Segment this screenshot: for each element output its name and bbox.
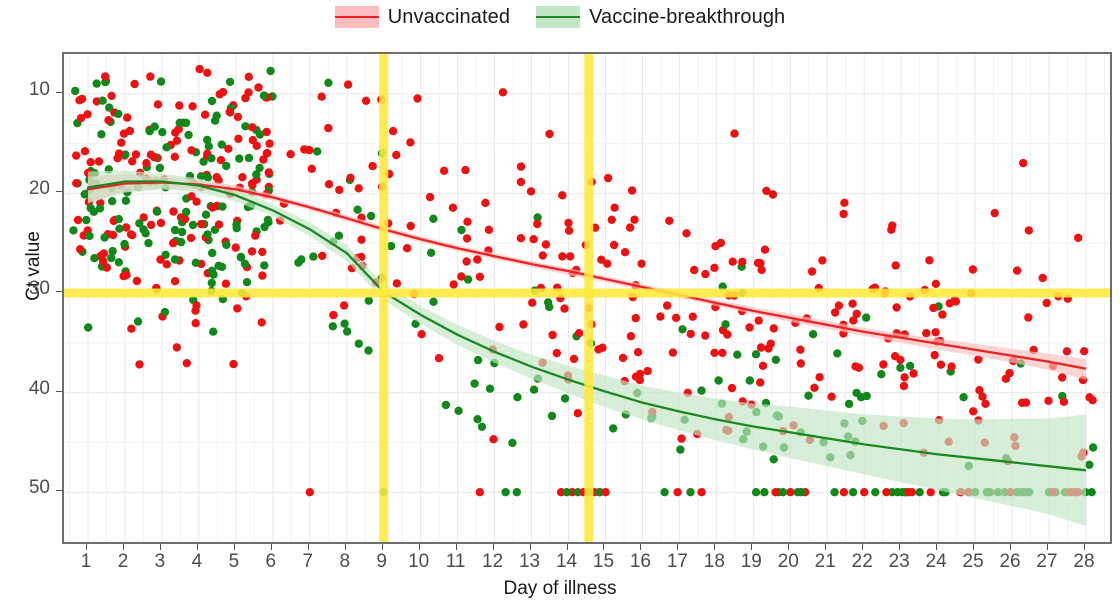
point-unvaccinated bbox=[669, 348, 677, 356]
point-vaccine-breakthrough bbox=[896, 364, 904, 372]
point-vaccine-breakthrough bbox=[746, 376, 754, 384]
point-unvaccinated bbox=[542, 240, 550, 248]
point-vaccine-breakthrough bbox=[156, 164, 164, 172]
point-censored bbox=[927, 488, 935, 496]
point-unvaccinated bbox=[701, 270, 709, 278]
point-vaccine-breakthrough bbox=[178, 228, 186, 236]
point-vaccine-breakthrough bbox=[457, 226, 465, 234]
point-unvaccinated bbox=[417, 330, 425, 338]
point-unvaccinated bbox=[100, 249, 108, 257]
point-unvaccinated bbox=[711, 242, 719, 250]
point-unvaccinated bbox=[245, 73, 253, 81]
point-unvaccinated bbox=[1080, 347, 1088, 355]
x-tick-label: 13 bbox=[510, 551, 550, 573]
point-unvaccinated bbox=[663, 301, 671, 309]
point-unvaccinated bbox=[324, 124, 332, 132]
point-unvaccinated bbox=[72, 179, 80, 187]
point-unvaccinated bbox=[181, 215, 189, 223]
point-vaccine-breakthrough bbox=[211, 117, 219, 125]
point-unvaccinated bbox=[74, 216, 82, 224]
point-unvaccinated bbox=[300, 145, 308, 153]
point-unvaccinated bbox=[113, 154, 121, 162]
point-unvaccinated bbox=[406, 138, 414, 146]
point-unvaccinated bbox=[130, 80, 138, 88]
legend-label-unvaccinated: Unvaccinated bbox=[388, 6, 510, 29]
point-unvaccinated bbox=[888, 221, 896, 229]
x-tick-mark bbox=[1047, 544, 1048, 550]
point-unvaccinated bbox=[603, 260, 611, 268]
point-vaccine-breakthrough bbox=[833, 349, 841, 357]
point-unvaccinated bbox=[188, 102, 196, 110]
point-unvaccinated bbox=[173, 343, 181, 351]
point-unvaccinated bbox=[1002, 375, 1010, 383]
point-vaccine-breakthrough bbox=[144, 239, 152, 247]
point-unvaccinated bbox=[574, 409, 582, 417]
point-vaccine-breakthrough bbox=[97, 130, 105, 138]
point-unvaccinated bbox=[656, 312, 664, 320]
point-vaccine-breakthrough bbox=[367, 212, 375, 220]
point-vaccine-breakthrough bbox=[906, 362, 914, 370]
x-tick-label: 24 bbox=[916, 551, 956, 573]
x-tick-mark bbox=[456, 544, 457, 550]
x-tick-label: 6 bbox=[251, 551, 291, 573]
x-tick-mark bbox=[973, 544, 974, 550]
point-unvaccinated bbox=[925, 256, 933, 264]
x-axis-title: Day of illness bbox=[0, 578, 1120, 600]
point-unvaccinated bbox=[251, 231, 259, 239]
point-unvaccinated bbox=[233, 304, 241, 312]
point-unvaccinated bbox=[87, 158, 95, 166]
x-tick-label: 11 bbox=[436, 551, 476, 573]
point-unvaccinated bbox=[476, 273, 484, 281]
plot-canvas bbox=[64, 54, 1110, 542]
point-vaccine-breakthrough bbox=[90, 208, 98, 216]
point-vaccine-breakthrough bbox=[309, 252, 317, 260]
x-tick-mark bbox=[86, 544, 87, 550]
point-unvaccinated bbox=[610, 241, 618, 249]
point-vaccine-breakthrough bbox=[226, 78, 234, 86]
point-unvaccinated bbox=[769, 190, 777, 198]
point-vaccine-breakthrough bbox=[222, 162, 230, 170]
point-vaccine-breakthrough bbox=[473, 415, 481, 423]
point-unvaccinated bbox=[234, 113, 242, 121]
point-unvaccinated bbox=[610, 204, 618, 212]
point-unvaccinated bbox=[133, 277, 141, 285]
point-unvaccinated bbox=[636, 376, 644, 384]
point-vaccine-breakthrough bbox=[501, 488, 509, 496]
point-unvaccinated bbox=[929, 304, 937, 312]
point-unvaccinated bbox=[975, 386, 983, 394]
point-unvaccinated bbox=[1019, 159, 1027, 167]
x-tick-mark bbox=[788, 544, 789, 550]
legend-label-vaccine-breakthrough: Vaccine-breakthrough bbox=[589, 6, 785, 29]
point-vaccine-breakthrough bbox=[544, 298, 552, 306]
point-unvaccinated bbox=[1025, 226, 1033, 234]
point-vaccine-breakthrough bbox=[153, 208, 161, 216]
point-vaccine-breakthrough bbox=[82, 216, 90, 224]
point-unvaccinated bbox=[127, 325, 135, 333]
point-vaccine-breakthrough bbox=[877, 370, 885, 378]
x-tick-mark bbox=[345, 544, 346, 550]
point-unvaccinated bbox=[931, 351, 939, 359]
point-unvaccinated bbox=[495, 323, 503, 331]
plot-panel bbox=[62, 52, 1112, 544]
point-censored bbox=[840, 488, 848, 496]
x-tick-mark bbox=[825, 544, 826, 550]
point-vaccine-breakthrough bbox=[203, 136, 211, 144]
point-unvaccinated bbox=[630, 216, 638, 224]
point-vaccine-breakthrough bbox=[151, 122, 159, 130]
point-vaccine-breakthrough bbox=[115, 225, 123, 233]
point-vaccine-breakthrough bbox=[99, 97, 107, 105]
point-vaccine-breakthrough bbox=[245, 154, 253, 162]
point-unvaccinated bbox=[318, 93, 326, 101]
point-vaccine-breakthrough bbox=[714, 376, 722, 384]
point-unvaccinated bbox=[937, 361, 945, 369]
point-unvaccinated bbox=[529, 235, 537, 243]
point-unvaccinated bbox=[393, 279, 401, 287]
point-unvaccinated bbox=[1074, 234, 1082, 242]
x-tick-label: 17 bbox=[657, 551, 697, 573]
point-vaccine-breakthrough bbox=[429, 298, 437, 306]
point-unvaccinated bbox=[248, 123, 256, 131]
point-unvaccinated bbox=[879, 360, 887, 368]
point-censored bbox=[673, 488, 681, 496]
point-unvaccinated bbox=[173, 137, 181, 145]
point-vaccine-breakthrough bbox=[235, 154, 243, 162]
point-censored bbox=[513, 488, 521, 496]
point-unvaccinated bbox=[759, 362, 767, 370]
point-unvaccinated bbox=[570, 355, 578, 363]
point-unvaccinated bbox=[677, 434, 685, 442]
point-vaccine-breakthrough bbox=[852, 389, 860, 397]
point-censored bbox=[660, 488, 668, 496]
point-unvaccinated bbox=[621, 248, 629, 256]
point-vaccine-breakthrough bbox=[252, 170, 260, 178]
x-tick-mark bbox=[567, 544, 568, 550]
x-tick-label: 14 bbox=[547, 551, 587, 573]
point-vaccine-breakthrough bbox=[772, 356, 780, 364]
point-unvaccinated bbox=[117, 139, 125, 147]
point-unvaccinated bbox=[201, 111, 209, 119]
point-unvaccinated bbox=[626, 223, 634, 231]
point-unvaccinated bbox=[187, 146, 195, 154]
point-vaccine-breakthrough bbox=[114, 110, 122, 118]
point-unvaccinated bbox=[575, 329, 583, 337]
point-unvaccinated bbox=[969, 407, 977, 415]
point-censored bbox=[760, 488, 768, 496]
x-tick-label: 5 bbox=[214, 551, 254, 573]
point-unvaccinated bbox=[318, 252, 326, 260]
point-vaccine-breakthrough bbox=[297, 255, 305, 263]
point-unvaccinated bbox=[729, 258, 737, 266]
point-unvaccinated bbox=[519, 320, 527, 328]
point-unvaccinated bbox=[128, 231, 136, 239]
point-vaccine-breakthrough bbox=[69, 226, 77, 234]
point-unvaccinated bbox=[690, 266, 698, 274]
point-unvaccinated bbox=[232, 243, 240, 251]
point-unvaccinated bbox=[527, 187, 535, 195]
point-vaccine-breakthrough bbox=[122, 197, 130, 205]
point-unvaccinated bbox=[730, 129, 738, 137]
point-censored bbox=[686, 488, 694, 496]
point-unvaccinated bbox=[517, 178, 525, 186]
point-unvaccinated bbox=[598, 344, 606, 352]
point-unvaccinated bbox=[154, 100, 162, 108]
point-unvaccinated bbox=[922, 329, 930, 337]
point-vaccine-breakthrough bbox=[862, 313, 870, 321]
point-censored bbox=[779, 488, 787, 496]
x-tick-mark bbox=[308, 544, 309, 550]
point-unvaccinated bbox=[815, 373, 823, 381]
point-unvaccinated bbox=[440, 167, 448, 175]
point-unvaccinated bbox=[101, 72, 109, 80]
point-vaccine-breakthrough bbox=[454, 407, 462, 415]
point-unvaccinated bbox=[839, 210, 847, 218]
point-vaccine-breakthrough bbox=[232, 221, 240, 229]
x-tick-label: 20 bbox=[768, 551, 808, 573]
point-unvaccinated bbox=[203, 69, 211, 77]
point-unvaccinated bbox=[539, 251, 547, 259]
y-tick-label: 20 bbox=[6, 178, 50, 200]
x-tick-mark bbox=[530, 544, 531, 550]
y-tick-label: 40 bbox=[6, 378, 50, 400]
point-unvaccinated bbox=[183, 359, 191, 367]
point-vaccine-breakthrough bbox=[429, 215, 437, 223]
point-vaccine-breakthrough bbox=[561, 394, 569, 402]
point-unvaccinated bbox=[892, 261, 900, 269]
point-unvaccinated bbox=[755, 316, 763, 324]
legend-item-vaccine-breakthrough[interactable]: Vaccine-breakthrough bbox=[536, 6, 785, 29]
x-tick-label: 12 bbox=[473, 551, 513, 573]
point-unvaccinated bbox=[831, 308, 839, 316]
point-unvaccinated bbox=[1013, 266, 1021, 274]
point-unvaccinated bbox=[346, 174, 354, 182]
x-tick-label: 15 bbox=[583, 551, 623, 573]
point-unvaccinated bbox=[362, 97, 370, 105]
point-vaccine-breakthrough bbox=[256, 130, 264, 138]
point-unvaccinated bbox=[558, 191, 566, 199]
point-unvaccinated bbox=[1058, 373, 1066, 381]
x-tick-mark bbox=[936, 544, 937, 550]
point-unvaccinated bbox=[938, 310, 946, 318]
point-vaccine-breakthrough bbox=[959, 393, 967, 401]
point-unvaccinated bbox=[249, 136, 257, 144]
point-unvaccinated bbox=[122, 271, 130, 279]
point-unvaccinated bbox=[499, 88, 507, 96]
point-unvaccinated bbox=[896, 356, 904, 364]
point-censored bbox=[476, 488, 484, 496]
y-axis-title: Ct value bbox=[23, 206, 45, 326]
point-unvaccinated bbox=[608, 216, 616, 224]
x-tick-mark bbox=[862, 544, 863, 550]
point-unvaccinated bbox=[818, 256, 826, 264]
point-vaccine-breakthrough bbox=[109, 247, 117, 255]
point-unvaccinated bbox=[687, 330, 695, 338]
point-unvaccinated bbox=[157, 219, 165, 227]
point-vaccine-breakthrough bbox=[208, 279, 216, 287]
point-unvaccinated bbox=[340, 301, 348, 309]
point-unvaccinated bbox=[77, 114, 85, 122]
point-unvaccinated bbox=[718, 349, 726, 357]
point-vaccine-breakthrough bbox=[353, 206, 361, 214]
point-unvaccinated bbox=[710, 349, 718, 357]
point-unvaccinated bbox=[128, 157, 136, 165]
x-tick-mark bbox=[382, 544, 383, 550]
point-unvaccinated bbox=[827, 393, 835, 401]
point-censored bbox=[697, 488, 705, 496]
point-unvaccinated bbox=[728, 384, 736, 392]
point-censored bbox=[904, 488, 912, 496]
point-vaccine-breakthrough bbox=[135, 219, 143, 227]
point-vaccine-breakthrough bbox=[355, 340, 363, 348]
point-vaccine-breakthrough bbox=[162, 143, 170, 151]
point-unvaccinated bbox=[104, 116, 112, 124]
point-unvaccinated bbox=[634, 348, 642, 356]
point-vaccine-breakthrough bbox=[90, 254, 98, 262]
x-tick-label: 19 bbox=[731, 551, 771, 573]
point-unvaccinated bbox=[462, 257, 470, 265]
point-vaccine-breakthrough bbox=[208, 249, 216, 257]
point-unvaccinated bbox=[473, 255, 481, 263]
point-vaccine-breakthrough bbox=[189, 221, 197, 229]
y-tick-label: 10 bbox=[6, 79, 50, 101]
point-vaccine-breakthrough bbox=[513, 393, 521, 401]
point-vaccine-breakthrough bbox=[241, 260, 249, 268]
point-censored bbox=[916, 488, 924, 496]
x-tick-label: 22 bbox=[842, 551, 882, 573]
point-vaccine-breakthrough bbox=[340, 320, 348, 328]
x-tick-label: 3 bbox=[140, 551, 180, 573]
point-unvaccinated bbox=[619, 354, 627, 362]
point-vaccine-breakthrough bbox=[161, 308, 169, 316]
point-vaccine-breakthrough bbox=[486, 385, 494, 393]
point-unvaccinated bbox=[99, 257, 107, 265]
point-unvaccinated bbox=[413, 94, 421, 102]
point-unvaccinated bbox=[325, 180, 333, 188]
point-vaccine-breakthrough bbox=[218, 202, 226, 210]
x-tick-label: 9 bbox=[362, 551, 402, 573]
vaccine-breakthrough-legend-key bbox=[536, 6, 580, 28]
point-unvaccinated bbox=[689, 313, 697, 321]
point-unvaccinated bbox=[528, 299, 536, 307]
point-censored bbox=[601, 488, 609, 496]
point-unvaccinated bbox=[892, 303, 900, 311]
point-unvaccinated bbox=[244, 88, 252, 96]
point-unvaccinated bbox=[169, 207, 177, 215]
x-tick-mark bbox=[160, 544, 161, 550]
point-vaccine-breakthrough bbox=[845, 400, 853, 408]
y-tick-label: 30 bbox=[6, 278, 50, 300]
point-vaccine-breakthrough bbox=[329, 322, 337, 330]
point-vaccine-breakthrough bbox=[157, 77, 165, 85]
point-vaccine-breakthrough bbox=[442, 401, 450, 409]
point-vaccine-breakthrough bbox=[182, 208, 190, 216]
point-vaccine-breakthrough bbox=[676, 445, 684, 453]
point-unvaccinated bbox=[171, 277, 179, 285]
point-vaccine-breakthrough bbox=[84, 323, 92, 331]
point-vaccine-breakthrough bbox=[752, 350, 760, 358]
point-unvaccinated bbox=[248, 179, 256, 187]
point-unvaccinated bbox=[426, 193, 434, 201]
x-tick-label: 2 bbox=[103, 551, 143, 573]
point-unvaccinated bbox=[449, 204, 457, 212]
point-vaccine-breakthrough bbox=[207, 154, 215, 162]
point-unvaccinated bbox=[224, 145, 232, 153]
point-unvaccinated bbox=[195, 65, 203, 73]
point-vaccine-breakthrough bbox=[733, 351, 741, 359]
point-unvaccinated bbox=[226, 108, 234, 116]
x-tick-mark bbox=[1084, 544, 1085, 550]
x-tick-label: 27 bbox=[1027, 551, 1067, 573]
x-tick-label: 8 bbox=[325, 551, 365, 573]
point-unvaccinated bbox=[991, 209, 999, 217]
point-unvaccinated bbox=[745, 323, 753, 331]
point-unvaccinated bbox=[135, 360, 143, 368]
point-vaccine-breakthrough bbox=[243, 278, 251, 286]
point-vaccine-breakthrough bbox=[115, 215, 123, 223]
x-tick-mark bbox=[234, 544, 235, 550]
point-unvaccinated bbox=[672, 314, 680, 322]
point-unvaccinated bbox=[756, 378, 764, 386]
point-vaccine-breakthrough bbox=[214, 262, 222, 270]
point-vaccine-breakthrough bbox=[100, 233, 108, 241]
point-unvaccinated bbox=[710, 264, 718, 272]
point-vaccine-breakthrough bbox=[697, 386, 705, 394]
x-tick-mark bbox=[603, 544, 604, 550]
point-vaccine-breakthrough bbox=[1089, 443, 1097, 451]
point-unvaccinated bbox=[461, 166, 469, 174]
point-unvaccinated bbox=[335, 186, 343, 194]
point-vaccine-breakthrough bbox=[171, 255, 179, 263]
point-unvaccinated bbox=[146, 72, 154, 80]
point-vaccine-breakthrough bbox=[548, 412, 556, 420]
point-unvaccinated bbox=[265, 139, 273, 147]
point-unvaccinated bbox=[643, 367, 651, 375]
point-unvaccinated bbox=[757, 343, 765, 351]
point-unvaccinated bbox=[219, 88, 227, 96]
point-unvaccinated bbox=[931, 328, 939, 336]
y-tick-label: 50 bbox=[6, 477, 50, 499]
x-tick-label: 18 bbox=[694, 551, 734, 573]
point-vaccine-breakthrough bbox=[313, 147, 321, 155]
point-unvaccinated bbox=[1018, 399, 1026, 407]
point-vaccine-breakthrough bbox=[721, 320, 729, 328]
point-unvaccinated bbox=[855, 364, 863, 372]
point-vaccine-breakthrough bbox=[1085, 461, 1093, 469]
point-vaccine-breakthrough bbox=[203, 230, 211, 238]
point-censored bbox=[849, 488, 857, 496]
point-censored bbox=[882, 488, 890, 496]
legend-item-unvaccinated[interactable]: Unvaccinated bbox=[335, 6, 510, 29]
point-censored bbox=[830, 488, 838, 496]
point-vaccine-breakthrough bbox=[804, 392, 812, 400]
point-unvaccinated bbox=[147, 151, 155, 159]
x-tick-label: 26 bbox=[990, 551, 1030, 573]
point-unvaccinated bbox=[900, 382, 908, 390]
point-unvaccinated bbox=[450, 280, 458, 288]
point-unvaccinated bbox=[560, 304, 568, 312]
point-unvaccinated bbox=[389, 127, 397, 135]
point-unvaccinated bbox=[770, 324, 778, 332]
point-unvaccinated bbox=[254, 83, 262, 91]
x-tick-label: 23 bbox=[879, 551, 919, 573]
point-vaccine-breakthrough bbox=[222, 241, 230, 249]
point-vaccine-breakthrough bbox=[364, 346, 372, 354]
point-unvaccinated bbox=[156, 255, 164, 263]
point-vaccine-breakthrough bbox=[470, 379, 478, 387]
chart-root: Unvaccinated Vaccine-breakthrough Ct val… bbox=[0, 0, 1120, 604]
